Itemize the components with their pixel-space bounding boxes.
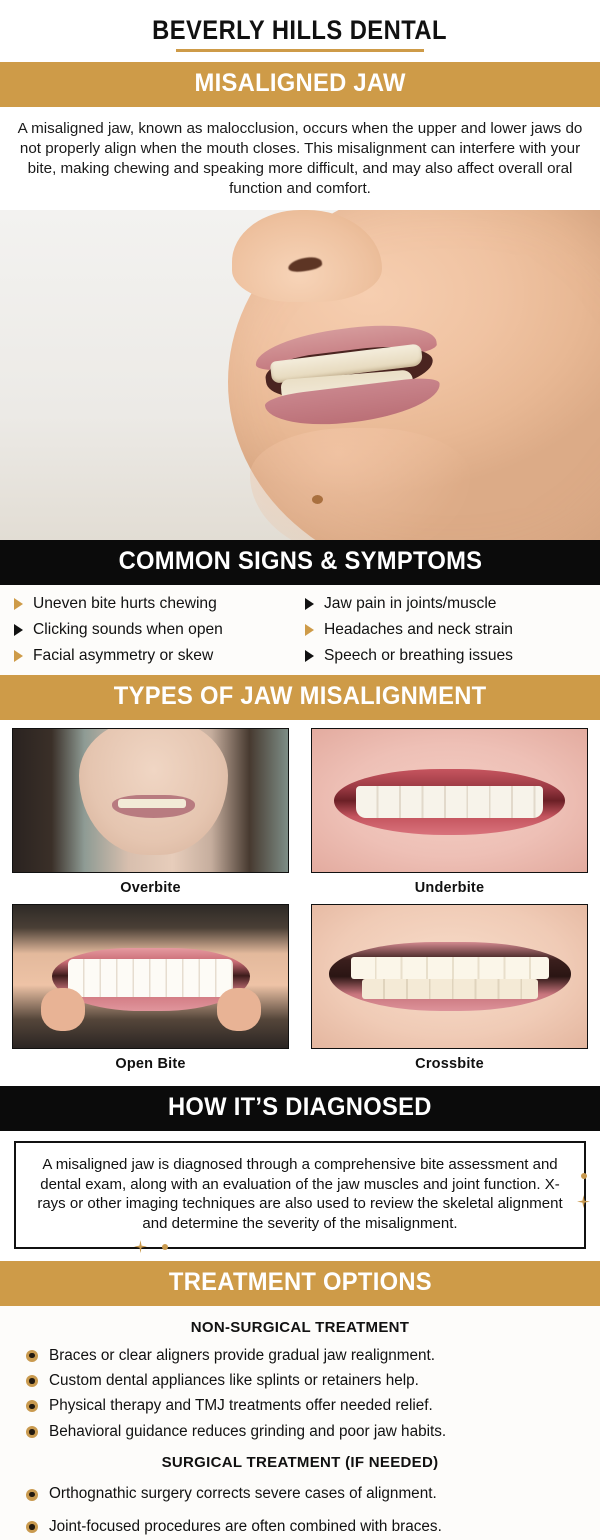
treatment-item: Behavioral guidance reduces grinding and… [14, 1419, 586, 1444]
triangle-bullet-icon [14, 598, 23, 610]
treatment-item: Braces or clear aligners provide gradual… [14, 1343, 586, 1368]
dot-bullet-icon [26, 1426, 38, 1438]
triangle-bullet-icon [305, 650, 314, 662]
triangle-bullet-icon [14, 624, 23, 636]
type-cell-overbite: Overbite [12, 728, 289, 904]
symptom-item: Uneven bite hurts chewing [14, 595, 295, 613]
infographic-page: BEVERLY HILLS DENTAL MISALIGNED JAW A mi… [0, 0, 600, 1540]
dot-bullet-icon [26, 1400, 38, 1412]
type-image-crossbite [311, 904, 588, 1049]
treatment-label: Orthognathic surgery corrects severe cas… [49, 1485, 437, 1503]
sparkle-icon [577, 1195, 590, 1208]
types-title-band: TYPES OF JAW MISALIGNMENT [0, 675, 600, 720]
type-image-overbite [12, 728, 289, 873]
brand-header: BEVERLY HILLS DENTAL [0, 0, 600, 62]
diagnosis-title: HOW IT’S DIAGNOSED [168, 1095, 432, 1120]
treatment-item: Physical therapy and TMJ treatments offe… [14, 1394, 586, 1419]
type-caption: Overbite [12, 873, 289, 904]
sparkle-dot-icon [581, 1173, 587, 1179]
treatment-section: NON-SURGICAL TREATMENT Braces or clear a… [0, 1306, 600, 1540]
treatment-title: TREATMENT OPTIONS [168, 1270, 431, 1295]
types-row-top: Overbite Underbite [12, 728, 588, 904]
diagnosis-box: A misaligned jaw is diagnosed through a … [14, 1141, 586, 1249]
treatment-label: Behavioral guidance reduces grinding and… [49, 1423, 446, 1441]
symptom-label: Clicking sounds when open [33, 621, 223, 639]
treatment-title-band: TREATMENT OPTIONS [0, 1261, 600, 1306]
treatment-label: Joint-focused procedures are often combi… [49, 1518, 442, 1536]
treatment-item: Custom dental appliances like splints or… [14, 1368, 586, 1393]
treatment-item: Joint-focused procedures are often combi… [14, 1511, 586, 1540]
dot-bullet-icon [26, 1350, 38, 1362]
symptom-label: Uneven bite hurts chewing [33, 595, 217, 613]
hero-chin-shape [250, 428, 470, 540]
treatment-subtitle-nonsurgical: NON-SURGICAL TREATMENT [14, 1316, 586, 1343]
hero-image [0, 210, 600, 540]
symptom-item: Clicking sounds when open [14, 621, 295, 639]
type-cell-crossbite: Crossbite [311, 904, 588, 1080]
types-row-bottom: Open Bite Crossbite [12, 904, 588, 1080]
triangle-bullet-icon [305, 598, 314, 610]
treatment-label: Braces or clear aligners provide gradual… [49, 1347, 435, 1365]
hero-title: MISALIGNED JAW [194, 71, 405, 96]
treatment-label: Physical therapy and TMJ treatments offe… [49, 1397, 433, 1415]
hero-title-band: MISALIGNED JAW [0, 62, 600, 107]
brand-underline [176, 49, 424, 52]
symptom-label: Headaches and neck strain [324, 621, 513, 639]
diagnosis-title-band: HOW IT’S DIAGNOSED [0, 1086, 600, 1131]
symptom-item: Jaw pain in joints/muscle [305, 595, 586, 613]
treatment-label: Custom dental appliances like splints or… [49, 1372, 419, 1390]
symptom-label: Facial asymmetry or skew [33, 647, 213, 665]
symptom-label: Speech or breathing issues [324, 647, 513, 665]
brand-name: BEVERLY HILLS DENTAL [153, 16, 448, 44]
symptoms-title-band: COMMON SIGNS & SYMPTOMS [0, 540, 600, 585]
symptom-item: Speech or breathing issues [305, 647, 586, 665]
treatment-item: Orthognathic surgery corrects severe cas… [14, 1478, 586, 1510]
symptom-label: Jaw pain in joints/muscle [324, 595, 496, 613]
type-image-open-bite [12, 904, 289, 1049]
type-caption: Underbite [311, 873, 588, 904]
symptoms-grid: Uneven bite hurts chewing Jaw pain in jo… [14, 595, 586, 665]
diagnosis-section: A misaligned jaw is diagnosed through a … [0, 1131, 600, 1261]
type-caption: Crossbite [311, 1049, 588, 1080]
symptoms-title: COMMON SIGNS & SYMPTOMS [118, 549, 482, 574]
types-title: TYPES OF JAW MISALIGNMENT [114, 684, 487, 709]
dot-bullet-icon [26, 1489, 38, 1501]
hero-intro-text: A misaligned jaw, known as malocclusion,… [0, 107, 600, 210]
symptoms-section: Uneven bite hurts chewing Jaw pain in jo… [0, 585, 600, 675]
triangle-bullet-icon [14, 650, 23, 662]
types-section: Overbite Underbite Open Bite Crossbit [0, 720, 600, 1086]
symptom-item: Facial asymmetry or skew [14, 647, 295, 665]
diagnosis-body: A misaligned jaw is diagnosed through a … [37, 1156, 562, 1232]
type-image-underbite [311, 728, 588, 873]
sparkle-dot-icon [162, 1244, 168, 1250]
triangle-bullet-icon [305, 624, 314, 636]
dot-bullet-icon [26, 1521, 38, 1533]
dot-bullet-icon [26, 1375, 38, 1387]
type-cell-underbite: Underbite [311, 728, 588, 904]
type-cell-open-bite: Open Bite [12, 904, 289, 1080]
sparkle-icon [134, 1240, 147, 1253]
treatment-subtitle-surgical: SURGICAL TREATMENT (IF NEEDED) [14, 1444, 586, 1478]
type-caption: Open Bite [12, 1049, 289, 1080]
symptom-item: Headaches and neck strain [305, 621, 586, 639]
